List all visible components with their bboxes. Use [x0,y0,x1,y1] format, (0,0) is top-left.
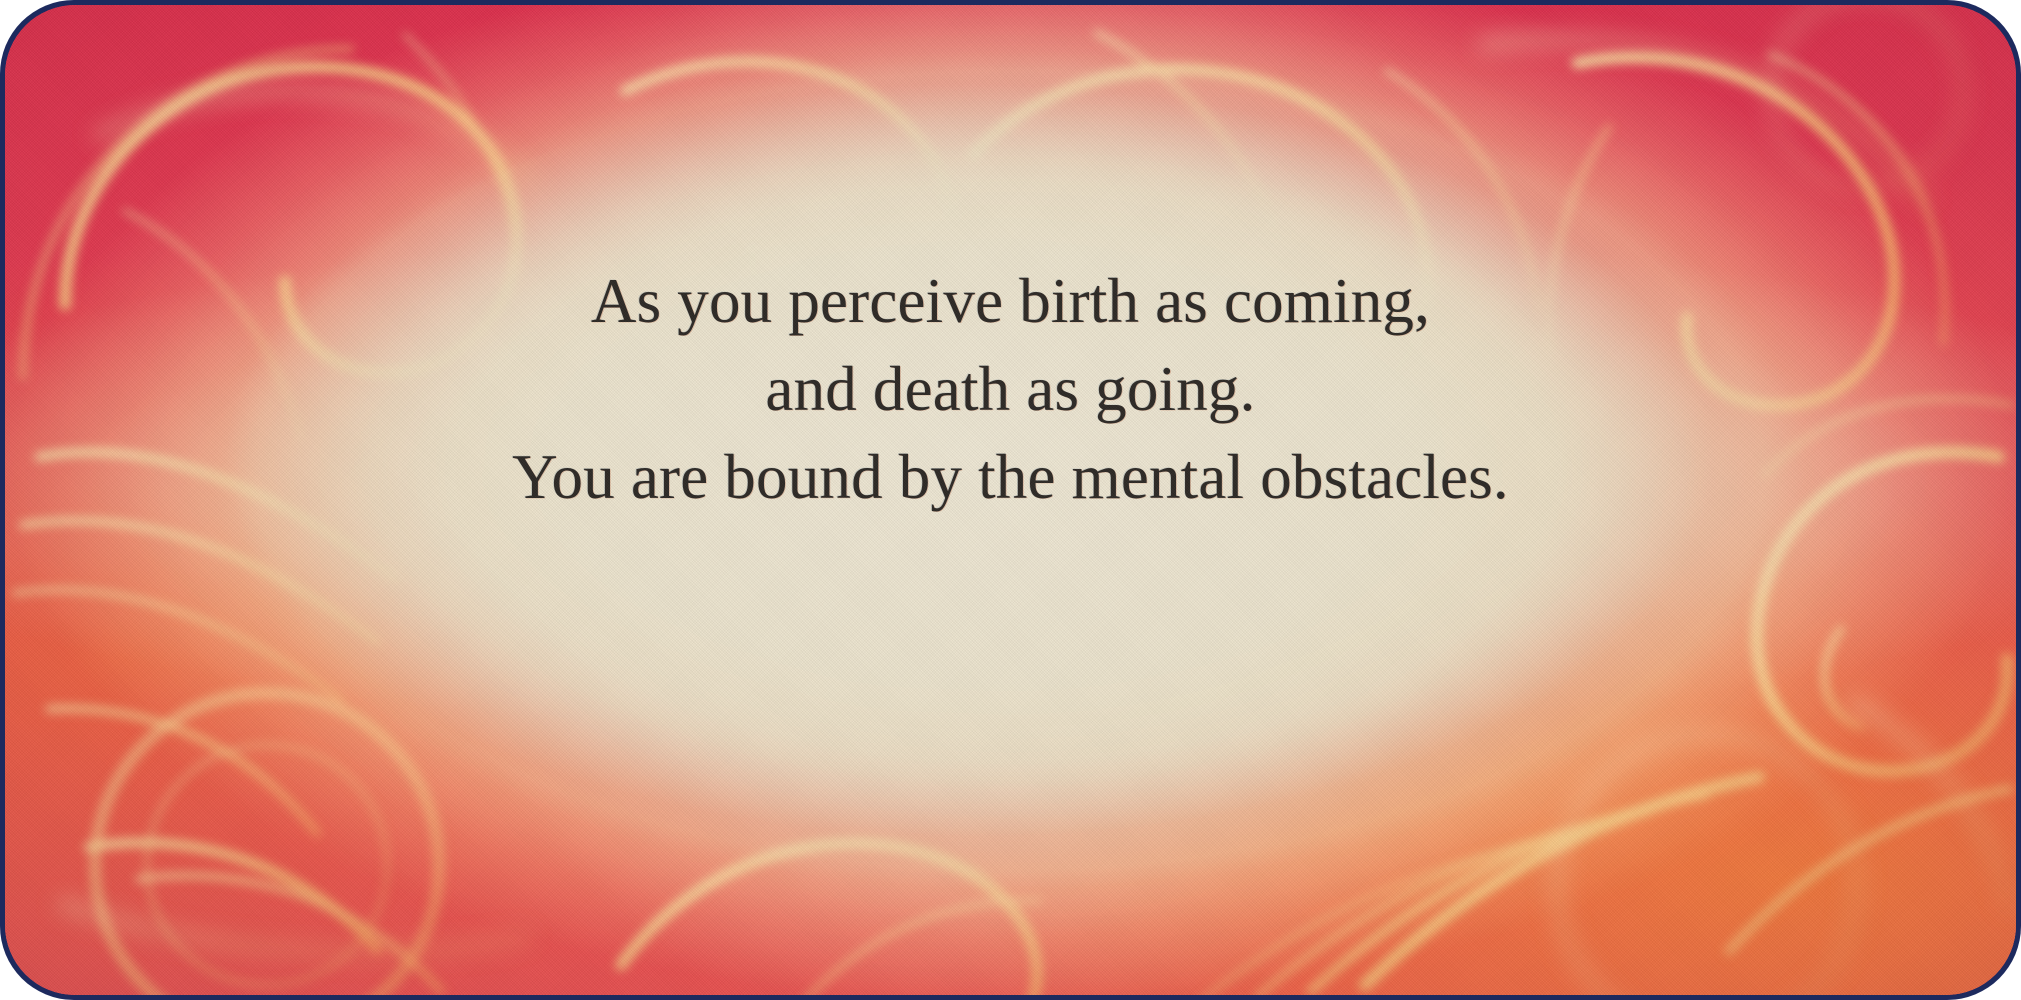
card-face: As you perceive birth as coming, and dea… [5,5,2016,995]
quote-text-block: As you perceive birth as coming, and dea… [5,257,2016,521]
quote-card: As you perceive birth as coming, and dea… [0,0,2021,1000]
quote-line-2: and death as going. [5,345,2016,433]
quote-line-1: As you perceive birth as coming, [5,257,2016,345]
quote-line-3: You are bound by the mental obstacles. [5,433,2016,521]
